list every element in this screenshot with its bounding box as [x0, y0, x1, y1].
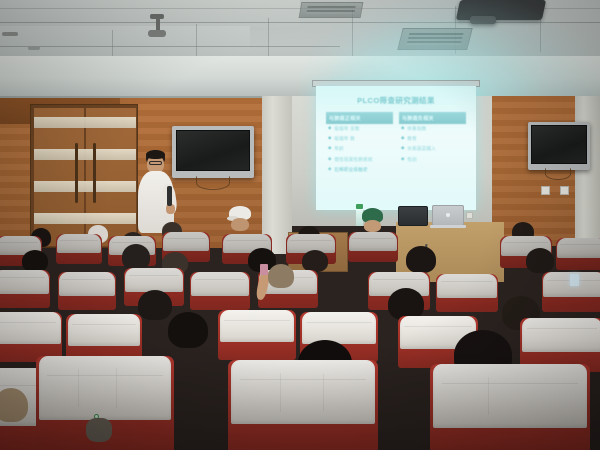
seat-cover-fold	[116, 368, 117, 409]
seat-cover	[59, 272, 115, 296]
slide-bullet: ◆ 体重指数	[399, 124, 466, 134]
attendee-hair	[268, 264, 294, 288]
slide-bullet: ◆ 年龄	[326, 144, 393, 154]
slide-bullet-text: 年龄	[334, 146, 344, 152]
wall-pillar	[262, 96, 292, 254]
seat-cover	[433, 364, 587, 428]
attendee-head	[364, 220, 381, 232]
attendee-hair	[0, 388, 28, 422]
slide-column-header: 与肺癌负相关	[399, 112, 466, 124]
seat[interactable]	[58, 272, 116, 310]
slide-column-negative: 与肺癌负相关 ◆ 体重指数 ◆ 教育 ◆ 水果蔬菜摄入 ◆	[399, 112, 466, 175]
slide-table: 与肺癌正相关 ◆ 吸烟年 支数 ◆ 吸烟年 数 ◆ 年龄 ◆	[326, 112, 466, 175]
slide-bullet: ◆ 慢性阻塞性肺疾病	[326, 155, 393, 165]
slide-bullet-text: 性别	[407, 157, 417, 163]
seat-cover	[68, 314, 141, 346]
ceiling-spotlight-head	[148, 30, 166, 37]
tv-right-cable	[545, 168, 571, 180]
macbook-laptop	[432, 205, 464, 226]
seat-cover	[349, 232, 397, 251]
lecture-hall-photo: PLCO筛查研究测结果 与肺癌正相关 ◆ 吸烟年 支数 ◆ 吸烟年 数 ◆ 年龄	[0, 0, 600, 450]
slide-title: PLCO筛查研究测结果	[326, 95, 466, 106]
seat-cover	[437, 274, 497, 298]
ceiling-fixture-left-2	[28, 46, 40, 50]
microphone[interactable]	[167, 186, 172, 206]
wall-pillar-right	[575, 96, 600, 256]
bullet-dot-icon: ◆	[401, 146, 405, 151]
seat-cover	[39, 356, 171, 420]
slide-bullet: ◆ 水果蔬菜摄入	[399, 144, 466, 154]
door-glass-panel	[34, 181, 136, 192]
audience-member-foreground-left	[0, 388, 40, 450]
seat-cover	[557, 238, 600, 258]
ceiling-soffit	[0, 56, 600, 98]
audience-member	[166, 312, 210, 362]
slide-column-header: 与肺癌正相关	[326, 112, 393, 124]
attendee-hair	[526, 248, 554, 273]
double-door-entry[interactable]	[30, 104, 138, 248]
presenter-glasses	[149, 161, 162, 165]
slide-bullet-text: 吸烟年 支数	[334, 126, 359, 132]
slide-bullet: ◆ 教育	[399, 134, 466, 144]
seat[interactable]	[430, 364, 590, 450]
slide-bullet-text: 慢性阻塞性肺疾病	[334, 157, 372, 163]
bullet-dot-icon: ◆	[328, 146, 332, 151]
bullet-dot-icon: ◆	[401, 136, 405, 141]
macbook-base	[430, 225, 466, 228]
phone-user-attendee	[556, 272, 590, 312]
seat-cover	[57, 234, 101, 253]
presentation-slide: PLCO筛查研究测结果 与肺癌正相关 ◆ 吸烟年 支数 ◆ 吸烟年 数 ◆ 年龄	[316, 86, 476, 210]
seat[interactable]	[348, 232, 398, 262]
seat[interactable]	[556, 238, 600, 270]
ceiling-fixture-left	[2, 32, 18, 36]
bullet-dot-icon: ◆	[401, 157, 405, 162]
door-glass-panel	[34, 213, 136, 224]
slide-bullet: ◆ 石棉职业接触史	[326, 165, 393, 175]
smartphone[interactable]	[260, 264, 268, 275]
seat-cover	[220, 310, 295, 342]
ceiling-air-vent	[397, 28, 472, 50]
seat-cover	[191, 272, 249, 296]
seat-cover	[163, 232, 209, 251]
seat[interactable]	[436, 274, 498, 312]
slide-bullet: ◆ 吸烟年 支数	[326, 124, 393, 134]
slide-bullet: ◆ 吸烟年 数	[326, 134, 393, 144]
slide-bullet-text: 石棉职业接触史	[334, 167, 368, 173]
seat-cover	[0, 312, 61, 344]
bullet-dot-icon: ◆	[328, 136, 332, 141]
door-handle-right[interactable]	[93, 143, 96, 203]
seat-cover	[0, 270, 49, 294]
seat[interactable]	[0, 270, 50, 308]
seat-cover	[125, 268, 183, 292]
seat[interactable]	[228, 360, 378, 450]
attendee-hair	[22, 250, 48, 272]
seat-cover	[522, 318, 600, 352]
wall-tv-right	[528, 122, 590, 170]
seat[interactable]	[190, 272, 250, 310]
audience-member-arm	[86, 418, 120, 450]
slide-bullet-text: 吸烟年 数	[334, 136, 355, 142]
seat-cover-fold	[280, 373, 281, 413]
seat-cover-fold	[323, 374, 324, 411]
external-monitor	[398, 206, 428, 226]
wall-tv-left	[172, 126, 254, 178]
door-handle-left[interactable]	[75, 143, 78, 203]
wall-tv-right-screen	[531, 125, 587, 163]
attendee-hand	[86, 418, 112, 442]
wall-outlet-1[interactable]	[541, 186, 550, 195]
door-glass-panel	[34, 149, 136, 160]
seat[interactable]	[0, 312, 62, 362]
slide-column-positive: 与肺癌正相关 ◆ 吸烟年 支数 ◆ 吸烟年 数 ◆ 年龄 ◆	[326, 112, 393, 175]
wall-switch-plate[interactable]	[466, 212, 473, 219]
wall-tv-left-screen	[176, 130, 250, 172]
seat-cover-fold	[488, 377, 489, 415]
bullet-dot-icon: ◆	[401, 126, 405, 131]
slide-bullet-text: 体重指数	[407, 126, 426, 132]
slide-bullet-text: 水果蔬菜摄入	[407, 146, 436, 152]
attendee-hair	[168, 312, 208, 348]
audience-member-raised-arm	[258, 262, 294, 308]
attendee-hair	[406, 246, 436, 273]
slide-bullet-text: 教育	[407, 136, 417, 142]
attendee-head	[231, 218, 249, 231]
projector-mount	[470, 16, 496, 24]
bullet-dot-icon: ◆	[328, 126, 332, 131]
presenter-hair-top	[146, 150, 165, 159]
ceiling-air-vent-secondary	[299, 2, 364, 18]
seat-cover	[231, 360, 375, 424]
seat[interactable]	[56, 234, 102, 264]
attendee-hair	[122, 244, 150, 270]
bullet-dot-icon: ◆	[328, 167, 332, 172]
attendee-hair	[302, 250, 328, 272]
seat-cover-fold	[78, 369, 79, 407]
door-glass-panel	[34, 117, 136, 128]
seat[interactable]	[218, 310, 296, 360]
smartphone-screen[interactable]	[570, 274, 579, 286]
bullet-dot-icon: ◆	[328, 157, 332, 162]
tv-left-cable	[196, 176, 230, 190]
slide-bullet: ◆ 性别	[399, 155, 466, 165]
projection-screen: PLCO筛查研究测结果 与肺癌正相关 ◆ 吸烟年 支数 ◆ 吸烟年 数 ◆ 年龄	[316, 86, 476, 210]
apple-logo-icon	[446, 213, 450, 217]
wall-outlet-2[interactable]	[560, 186, 569, 195]
